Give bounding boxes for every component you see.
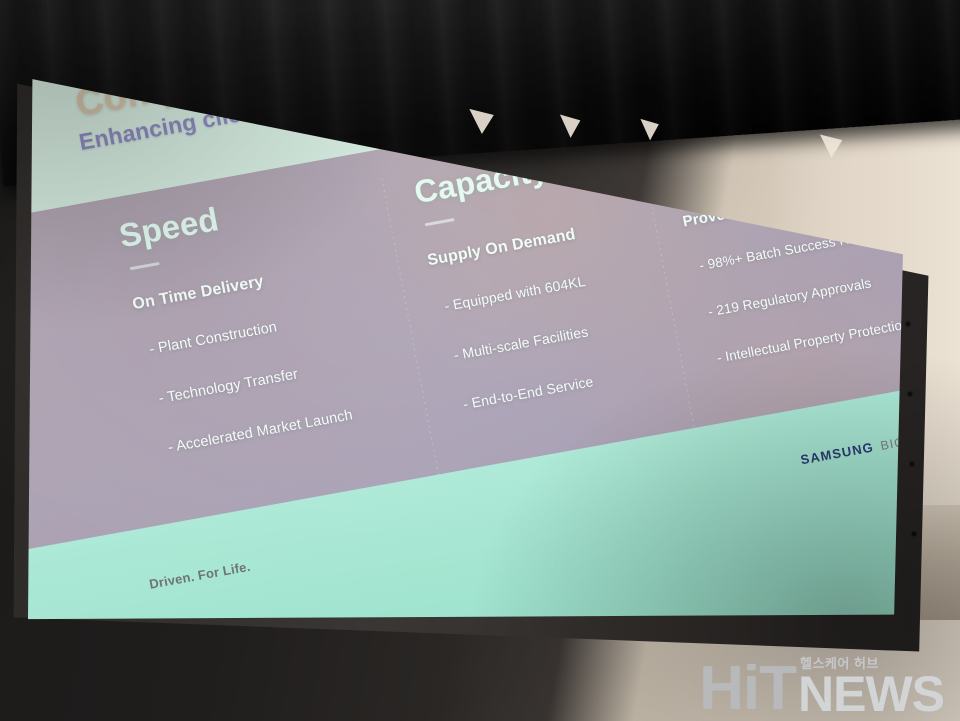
watermark-news-text: NEWS — [798, 673, 944, 715]
photo-scene: Competitive Edge Enhancing client satisf… — [0, 0, 960, 721]
column-subheading-capacity: Supply On Demand — [426, 226, 578, 270]
list-item: - Intellectual Property Protection — [708, 316, 910, 367]
column-subheading-speed: On Time Delivery — [131, 262, 327, 314]
column-items-capacity: - Equipped with 604KL - Multi-scale Faci… — [435, 273, 605, 414]
list-item: - Accelerated Market Launch — [159, 407, 354, 457]
column-items-speed: - Plant Construction - Technology Transf… — [140, 309, 354, 458]
column-heading-speed: Speed — [116, 183, 315, 255]
list-item: - Plant Construction — [140, 309, 335, 359]
watermark-hit-text: HiT — [699, 664, 796, 715]
list-item: - Multi-scale Facilities — [444, 322, 596, 364]
list-item: - Equipped with 604KL — [435, 273, 587, 315]
list-item: - Technology Transfer — [149, 358, 344, 408]
column-capacity: Capacity Supply On Demand - Equipped wit… — [411, 148, 612, 447]
list-item: - End-to-End Service — [454, 371, 606, 413]
heading-rule-speed — [130, 262, 160, 270]
hitnews-watermark: HiT 헬스케어 허브 NEWS — [699, 653, 944, 715]
heading-rule-capacity — [425, 218, 455, 226]
list-item: - 219 Regulatory Approvals — [699, 270, 902, 321]
column-speed: Speed On Time Delivery - Plant Construct… — [116, 183, 360, 491]
